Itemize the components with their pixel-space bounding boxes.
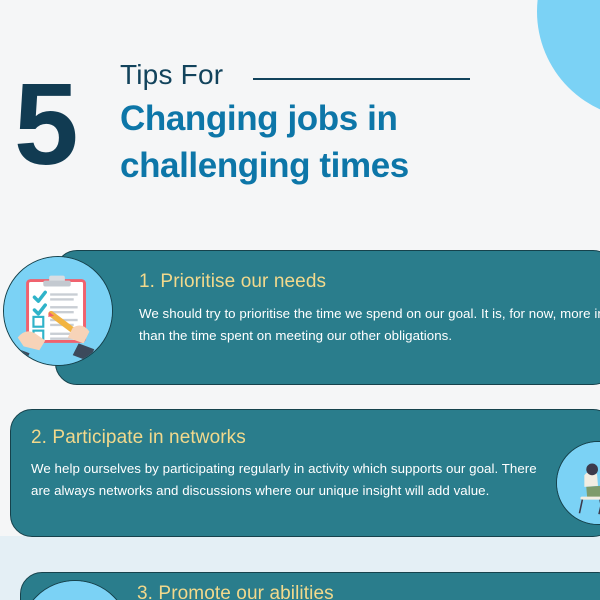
tip-card-2-body: We help ourselves by participating regul… (31, 458, 556, 501)
header: 5 Tips For Changing jobs in challenging … (0, 0, 600, 225)
header-eyebrow: Tips For (120, 59, 223, 91)
infographic-page: 5 Tips For Changing jobs in challenging … (0, 0, 600, 600)
tip-count-number: 5 (14, 66, 76, 182)
tip-card-1-title: 1. Prioritise our needs (139, 271, 326, 293)
tip-card-1-body: We should try to prioritise the time we … (139, 303, 600, 346)
tip-card-2-title: 2. Participate in networks (31, 427, 246, 449)
page-title: Changing jobs in challenging times (120, 96, 540, 190)
clipboard-checklist-icon (3, 256, 113, 366)
tip-card-3-title: 3. Promote our abilities (137, 583, 334, 600)
header-divider-rule (253, 78, 470, 80)
